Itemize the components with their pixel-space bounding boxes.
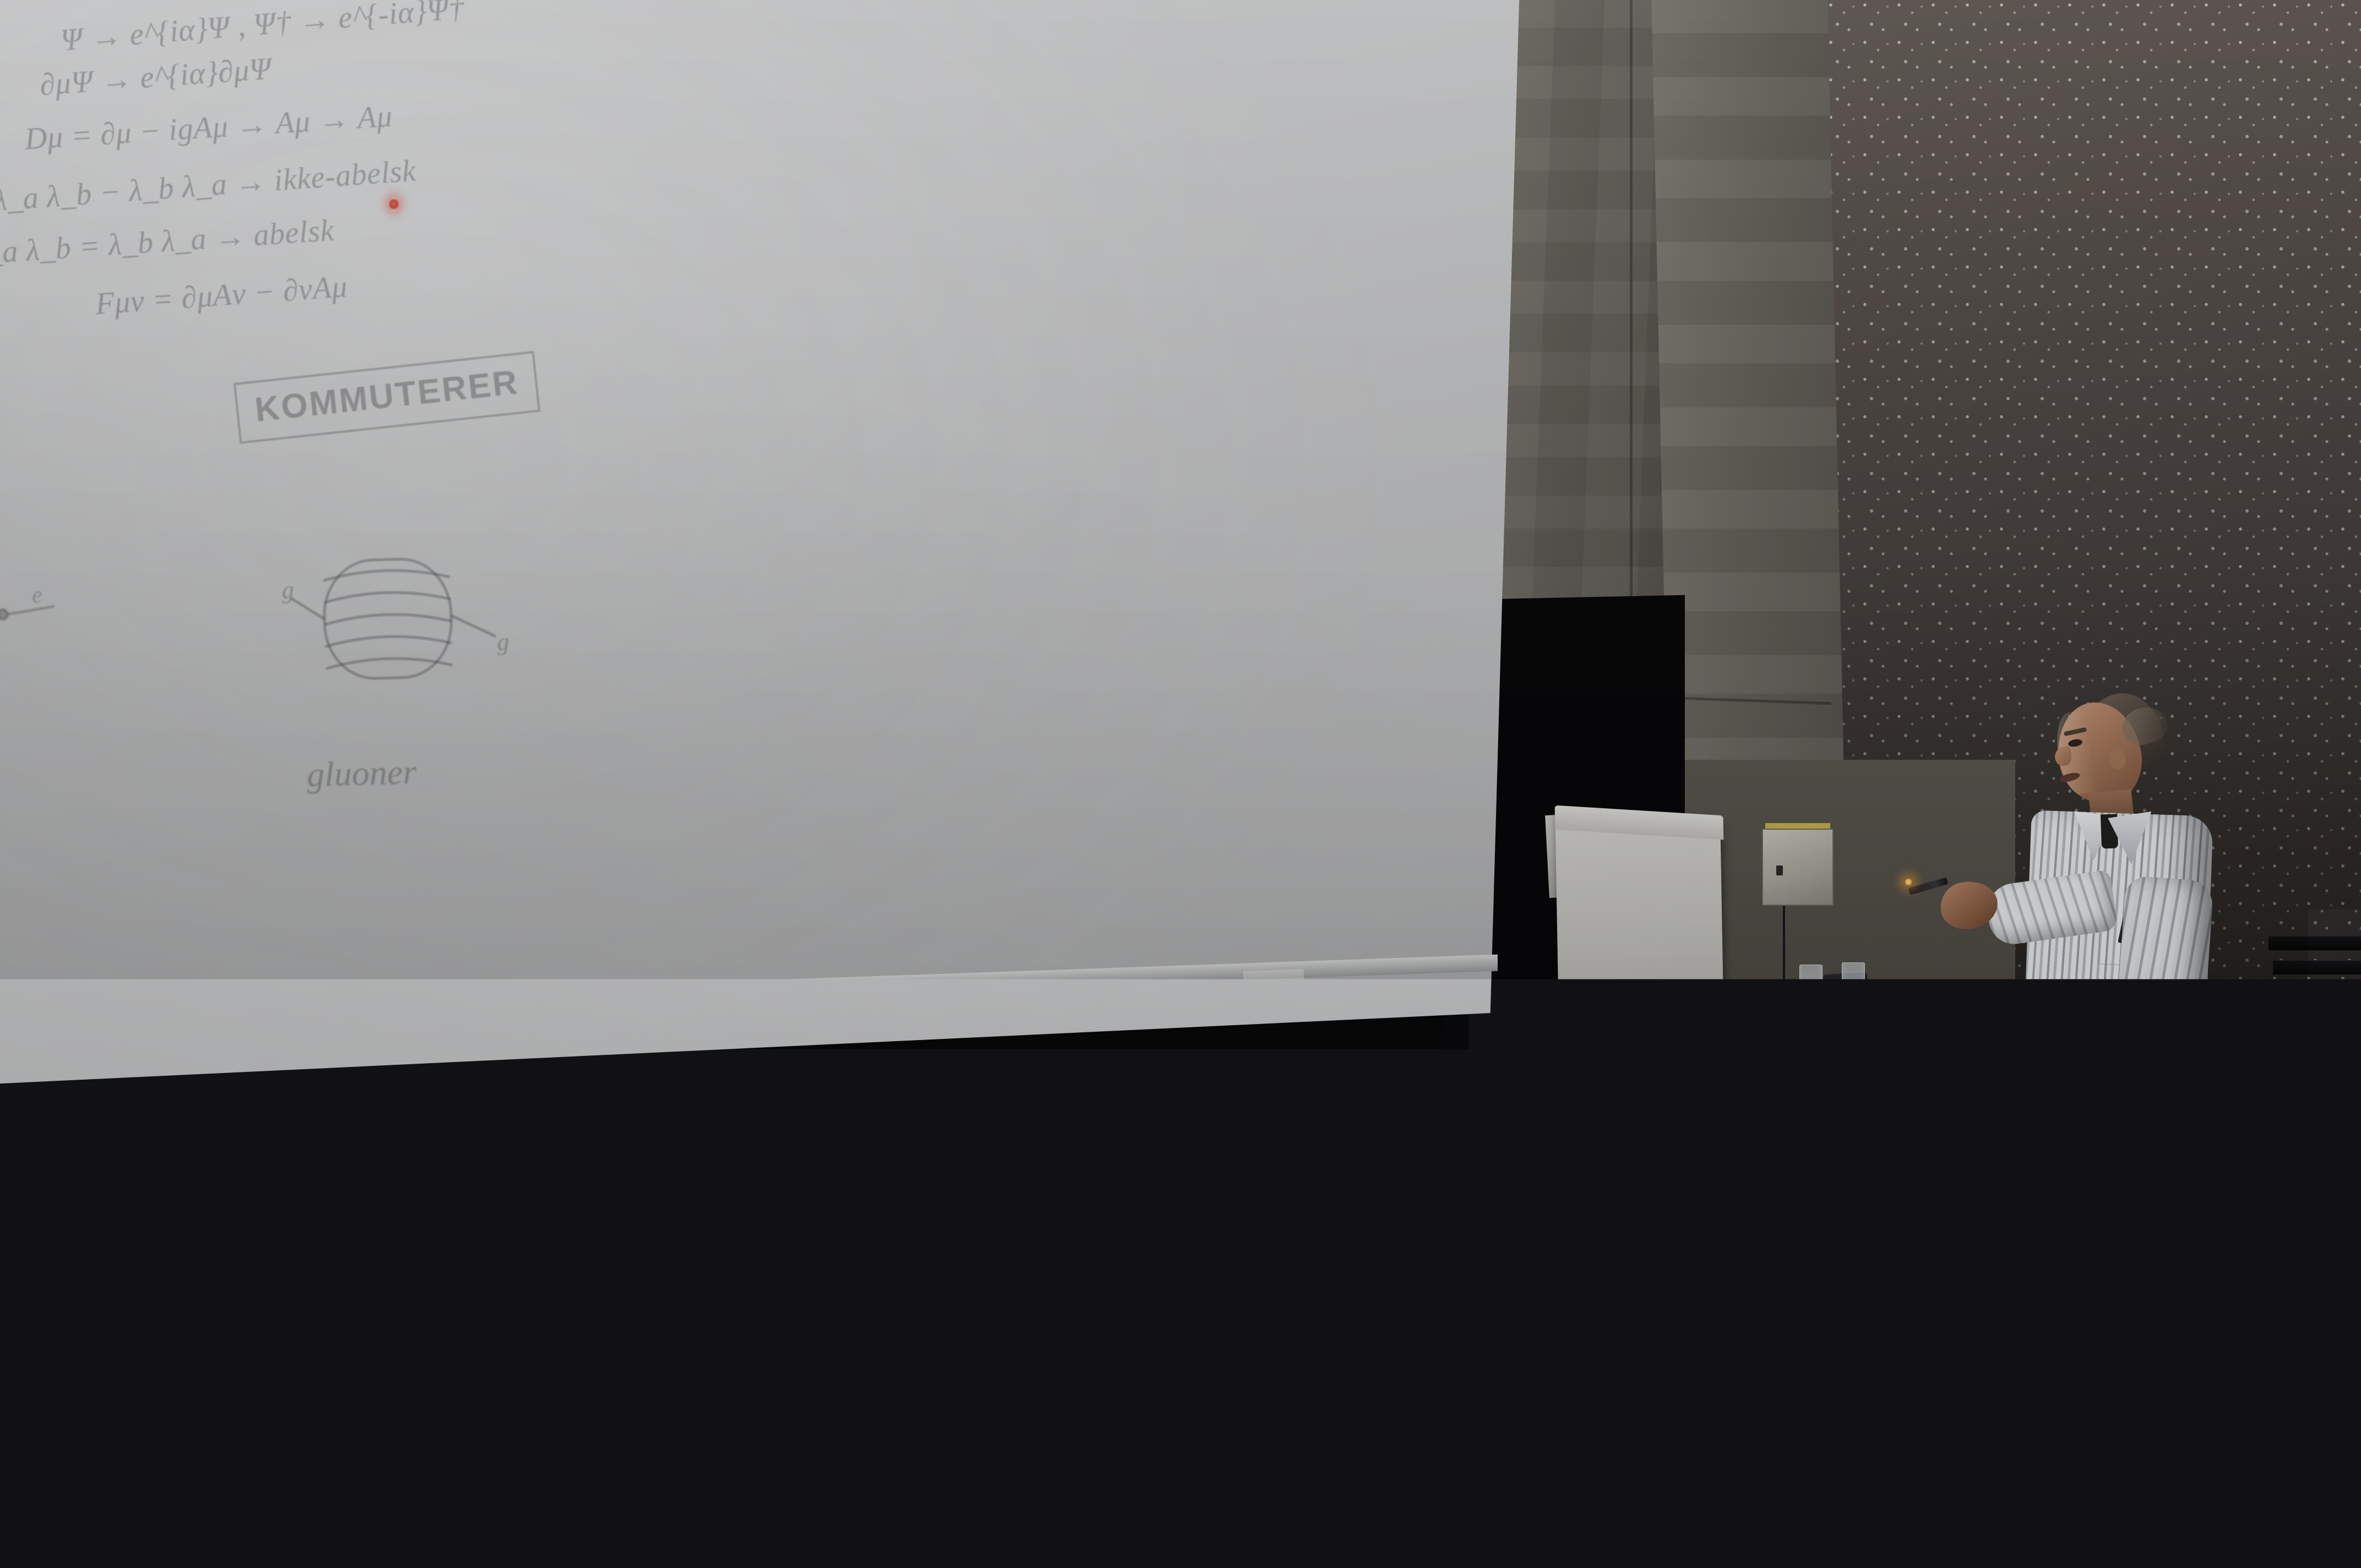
slide-equation-6: Fμν = ∂μAν − ∂νAμ <box>94 269 349 322</box>
left-vertex-diagram: e <box>0 513 101 717</box>
ricoh-carton <box>1876 1172 1911 1198</box>
wall-electrical-cabinet[interactable] <box>1762 829 1834 906</box>
speaker-left-cone <box>1624 1104 1756 1237</box>
lecture-hall-photo: Ψ → e^{iα}Ψ , Ψ† → e^{-iα}Ψ† ∂μΨ → e^{iα… <box>0 0 2361 1568</box>
slide-equation-4: λ_a λ_b − λ_b λ_a → ikke-abelsk <box>0 153 417 219</box>
speaker-left-power-led <box>1711 1210 1717 1216</box>
stacked-chairs <box>2268 936 2361 1316</box>
slide-equation-2: ∂μΨ → e^{iα}∂μΨ <box>39 51 273 103</box>
speaker-right-cone <box>1748 1110 1842 1221</box>
red-waste-bin <box>1874 1199 1913 1265</box>
slide-gluon-label: gluoner <box>306 752 417 796</box>
laser-dot <box>389 197 399 211</box>
svg-text:e: e <box>31 582 42 608</box>
presenter-shoe-right <box>2085 1494 2169 1533</box>
projection-screen: Ψ → e^{iα}Ψ , Ψ† → e^{-iα}Ψ† ∂μΨ → e^{iα… <box>0 0 1520 1085</box>
cabinet-latch-icon[interactable] <box>1776 865 1783 875</box>
speaker-right-power-led <box>1823 1207 1827 1212</box>
slide-equation-5: λ_a λ_b = λ_b λ_a → abelsk <box>0 213 335 271</box>
cocktail-table-base <box>1791 1330 1928 1356</box>
speaker-right <box>1740 1096 1853 1286</box>
slide-boxed-term-label: KOMMUTERER <box>253 363 521 429</box>
presenter-trousers <box>2031 1109 2202 1497</box>
speaker-left-brand: WORK <box>1651 1217 1690 1230</box>
slide-equation-1: Ψ → e^{iα}Ψ , Ψ† → e^{-iα}Ψ† <box>59 0 466 58</box>
svg-text:g: g <box>497 628 509 656</box>
speaker-right-brand: WORK <box>1766 1210 1798 1221</box>
presenter-shoe-left <box>2014 1464 2099 1505</box>
laser-pointer-tip-icon <box>1904 878 1913 886</box>
gluon-loop-diagram: g g <box>278 534 525 722</box>
water-glass-right[interactable] <box>1842 962 1865 993</box>
presenter <box>1993 696 2280 1550</box>
slide-boxed-term: KOMMUTERER <box>233 351 541 444</box>
water-glass-left[interactable] <box>1799 965 1823 995</box>
slide-equation-3: Dμ = ∂μ − igAμ → Aμ → Aμ <box>24 99 394 157</box>
flipchart-leg-left <box>1568 1074 1586 1288</box>
cocktail-table-stem <box>1851 1002 1867 1343</box>
screen-logo-plate <box>1243 969 1304 984</box>
projected-slide: Ψ → e^{iα}Ψ , Ψ† → e^{-iα}Ψ† ∂μΨ → e^{iα… <box>0 0 673 890</box>
svg-text:g: g <box>281 576 294 604</box>
